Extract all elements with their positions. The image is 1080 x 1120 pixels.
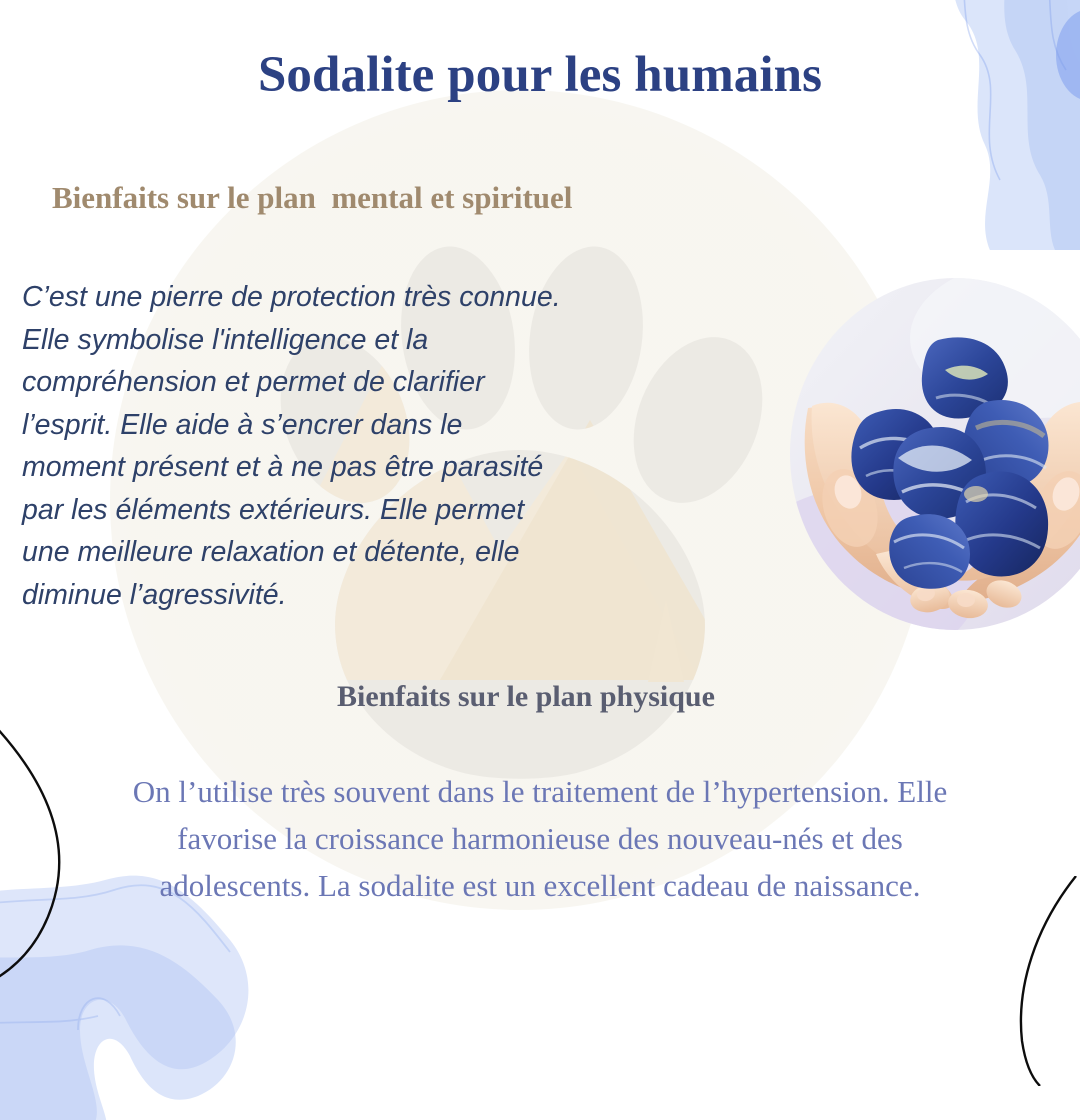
section-heading-physique: Bienfaits sur le plan physique (0, 680, 1080, 714)
body-line: Elle symbolise l'intelligence et la (22, 319, 722, 362)
body-line: moment présent et à ne pas être parasité (22, 446, 722, 489)
blue-ink-blob-top-right (790, 0, 1080, 250)
body-line: C’est une pierre de protection très conn… (22, 276, 722, 319)
section-body-mental-spiritual: C’est une pierre de protection très conn… (22, 276, 722, 616)
body-line: compréhension et permet de clarifier (22, 361, 722, 404)
thin-black-curve-right (964, 876, 1080, 1086)
page-title: Sodalite pour les humains (0, 46, 1080, 104)
body-line: diminue l’agressivité. (22, 574, 722, 617)
hands-holding-sodalite-stones-image (790, 278, 1080, 630)
section-body-physique: On l’utilise très souvent dans le traite… (120, 768, 960, 909)
body-line: l’esprit. Elle aide à s’encrer dans le (22, 404, 722, 447)
thin-black-curve-left (0, 726, 130, 986)
body-line: par les éléments extérieurs. Elle permet (22, 489, 722, 532)
body-line: une meilleure relaxation et détente, ell… (22, 531, 722, 574)
section-heading-mental-spiritual: Bienfaits sur le plan mental et spiritue… (52, 180, 572, 216)
